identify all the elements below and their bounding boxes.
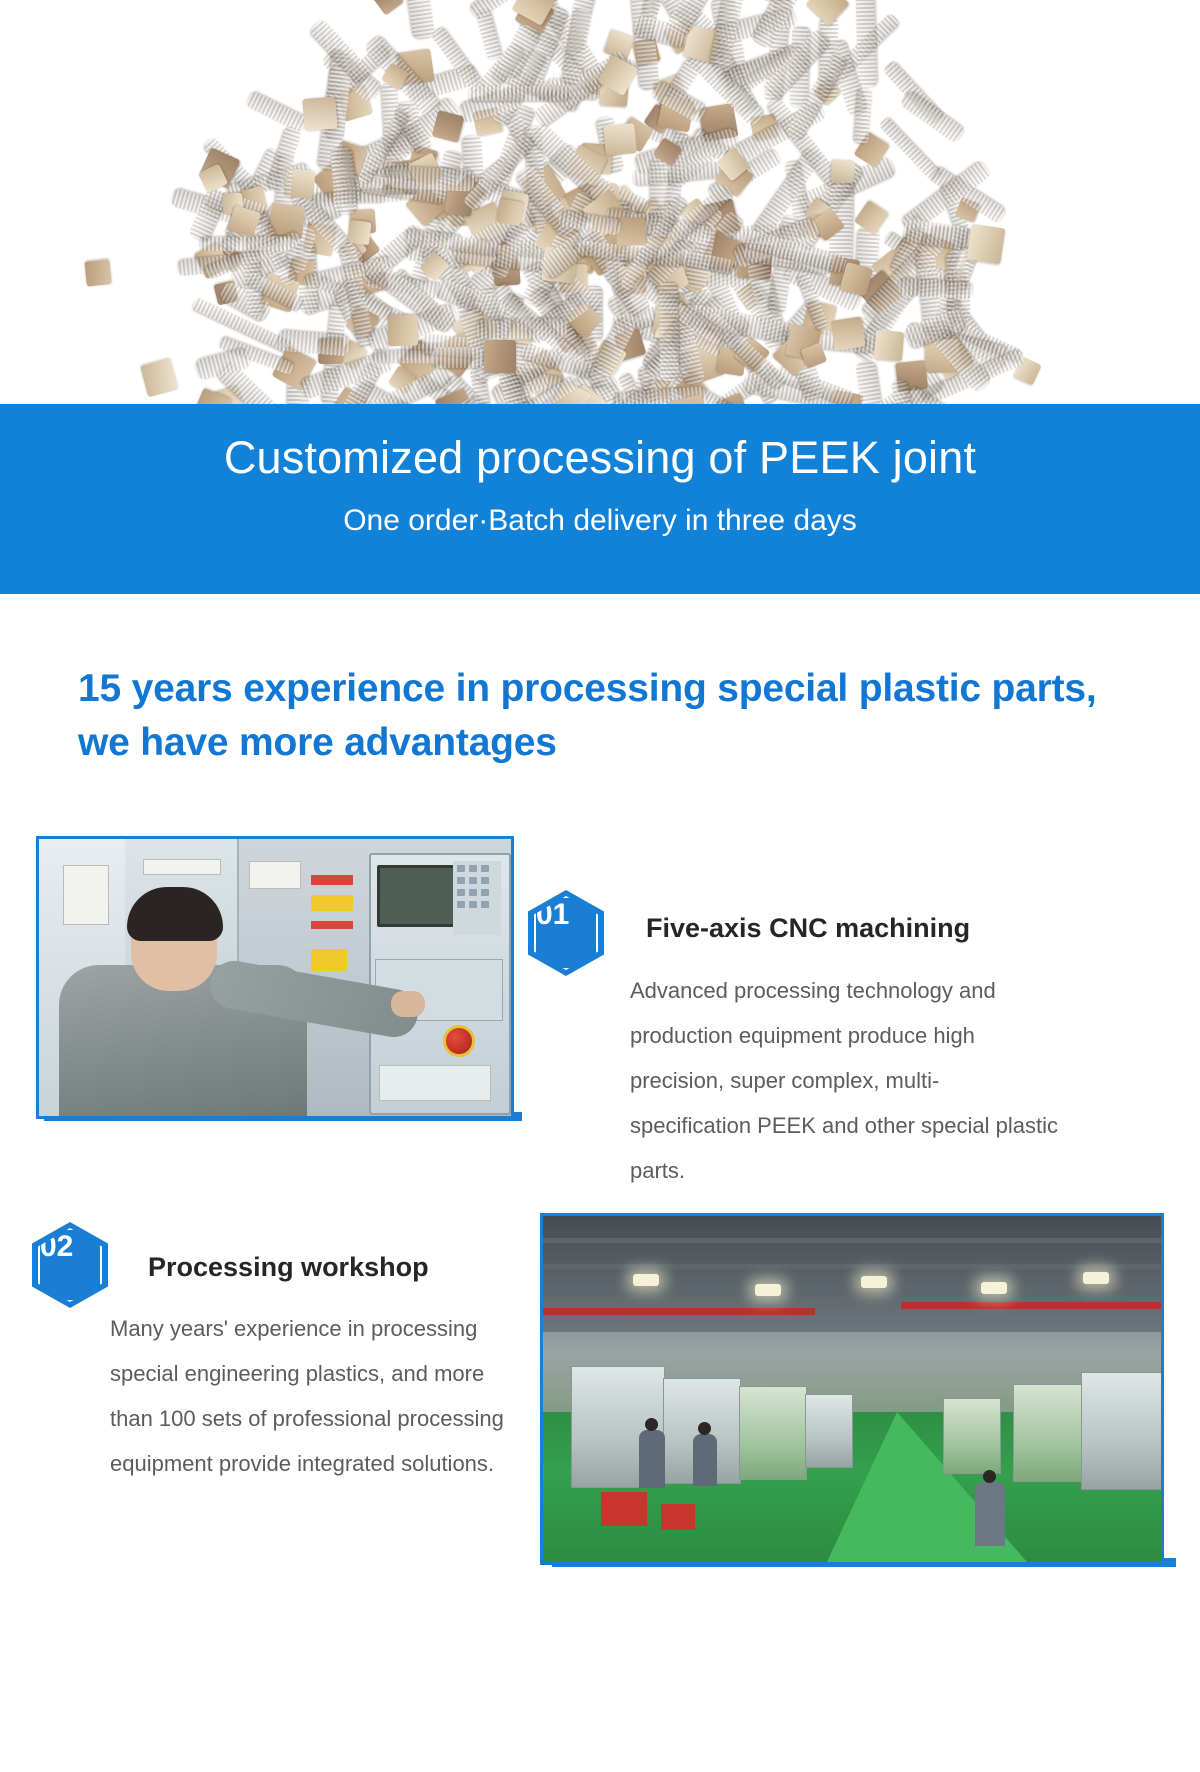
peek-fitting-head	[347, 219, 372, 244]
peek-fitting-head	[874, 330, 905, 362]
peek-fitting	[469, 86, 570, 101]
feature-2-title: Processing workshop	[148, 1252, 429, 1283]
peek-fitting	[900, 90, 966, 144]
section-headline: 15 years experience in processing specia…	[78, 662, 1138, 770]
feature-1-body: Advanced processing technology and produ…	[630, 968, 1060, 1193]
peek-fitting-head	[831, 159, 855, 183]
peek-fitting	[855, 0, 877, 87]
feature-1-photo	[36, 836, 514, 1119]
peek-fitting-head	[966, 224, 1005, 264]
peek-fitting-head	[830, 317, 865, 351]
feature-2-photo	[540, 1213, 1164, 1565]
peek-fitting	[432, 347, 484, 368]
feature-1-title: Five-axis CNC machining	[646, 913, 970, 944]
peek-fitting-head	[603, 123, 637, 156]
peek-fitting	[658, 282, 678, 382]
hero-subtitle: One order·Batch delivery in three days	[0, 504, 1200, 538]
peek-fitting-head	[141, 358, 179, 397]
feature-2-body: Many years' experience in processing spe…	[110, 1306, 510, 1486]
peek-fitting-head	[387, 315, 417, 346]
peek-fitting-head	[496, 198, 523, 226]
peek-fitting-head	[84, 259, 111, 287]
hero-title: Customized processing of PEEK joint	[0, 432, 1200, 484]
peek-fitting	[245, 90, 308, 133]
peek-fitting-head	[432, 110, 465, 143]
peek-fitting	[389, 166, 475, 192]
peek-fitting-head	[805, 0, 850, 27]
peek-fitting-head	[484, 340, 516, 373]
peek-fitting-head	[302, 97, 338, 132]
hero-banner: Customized processing of PEEK joint One …	[0, 0, 1200, 630]
hero-title-band: Customized processing of PEEK joint One …	[0, 404, 1200, 594]
peek-fitting-head	[372, 0, 404, 16]
peek-fitting	[405, 0, 435, 40]
peek-fitting-head	[616, 218, 645, 246]
peek-fitting	[200, 236, 294, 251]
